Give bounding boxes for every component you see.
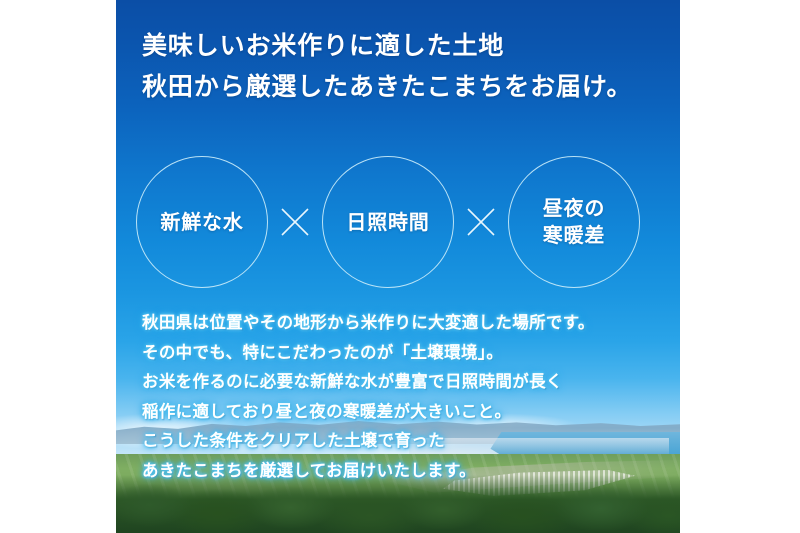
body-copy-line: お米を作るのに必要な新鮮な水が豊富で日照時間が長く [142,367,662,397]
factor-circle-fresh-water: 新鮮な水 [136,156,268,288]
factor-label-temperature-range-line-2: 寒暖差 [543,223,605,247]
body-copy-line: 秋田県は位置やその地形から米作りに大変適した場所です。 [142,308,662,338]
multiply-operator-1 [268,157,322,287]
headline: 美味しいお米作りに適した土地 秋田から厳選したあきたこまちをお届け。 [142,26,662,107]
factor-circles-row: 新鮮な水 日照時間 昼夜の 寒暖差 [136,152,676,292]
factor-circle-temperature-range: 昼夜の 寒暖差 [508,156,640,288]
factor-label-temperature-range-line-1: 昼夜の [543,196,605,220]
body-copy-line: その中でも、特にこだわったのが「土壌環境」。 [142,338,662,368]
body-copy: 秋田県は位置やその地形から米作りに大変適した場所です。 その中でも、特にこだわっ… [142,308,662,485]
factor-label-sunshine-hours: 日照時間 [346,209,429,236]
factor-circle-sunshine-hours: 日照時間 [322,156,454,288]
multiply-icon [280,207,310,237]
body-copy-line: こうした条件をクリアした土壌で育った [142,426,662,456]
body-copy-line: あきたこまちを厳選してお届けいたします。 [142,456,662,486]
multiply-operator-2 [454,157,508,287]
promo-banner: 美味しいお米作りに適した土地 秋田から厳選したあきたこまちをお届け。 新鮮な水 … [116,0,680,533]
headline-line-1: 美味しいお米作りに適した土地 [142,26,662,67]
headline-line-2: 秋田から厳選したあきたこまちをお届け。 [142,67,662,108]
factor-label-temperature-range: 昼夜の 寒暖差 [543,195,605,249]
factor-label-fresh-water: 新鮮な水 [160,209,243,236]
multiply-icon [466,207,496,237]
body-copy-line: 稲作に適しており昼と夜の寒暖差が大きいこと。 [142,397,662,427]
